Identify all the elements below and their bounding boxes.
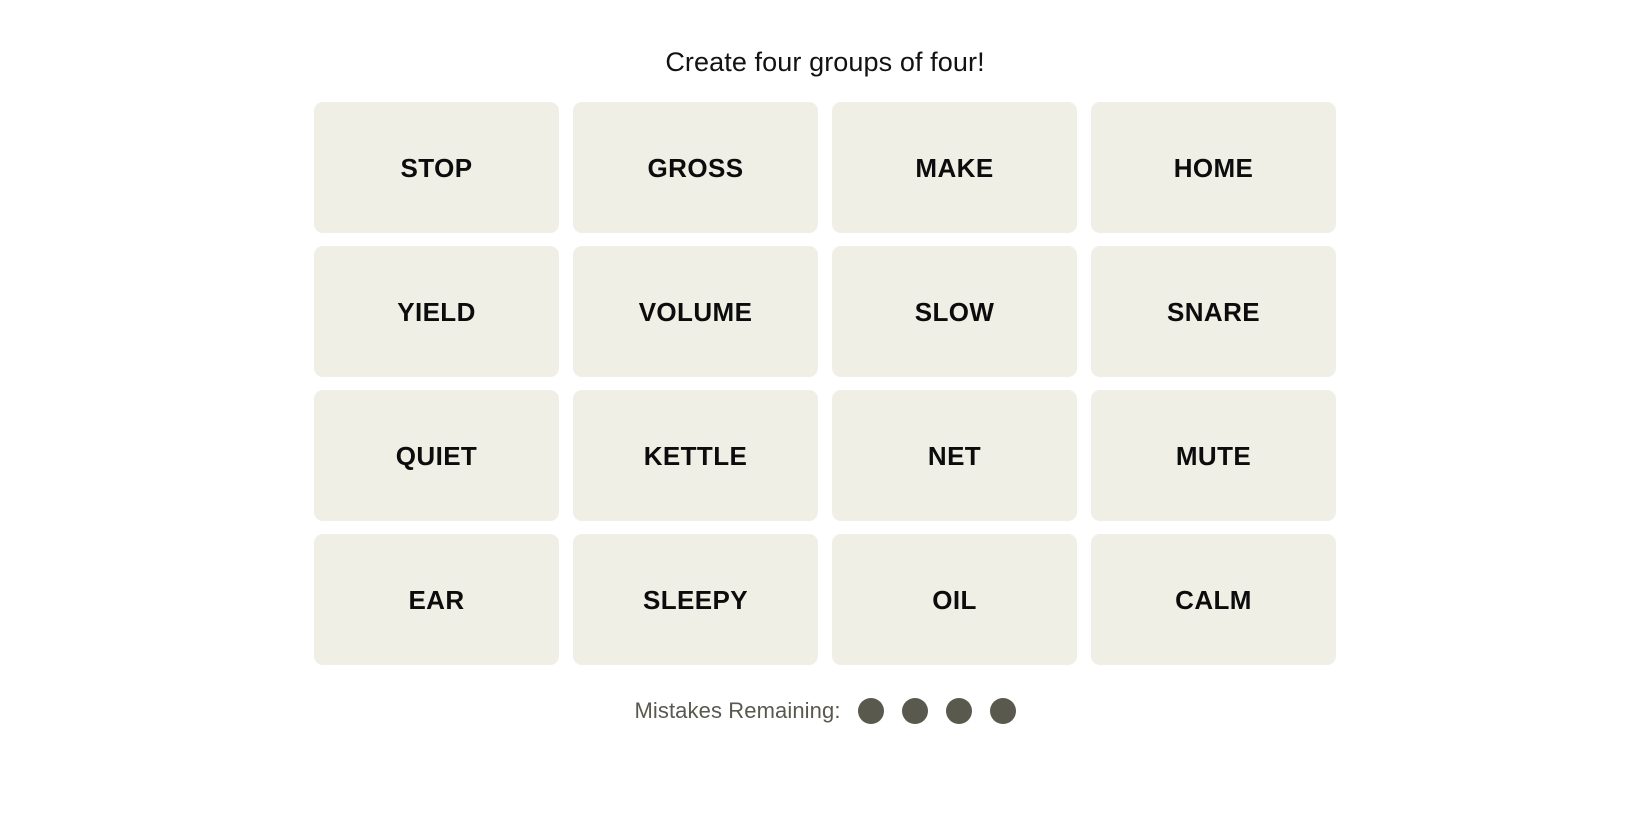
word-tile-label: YIELD bbox=[397, 299, 476, 325]
word-tile[interactable]: SLEEPY bbox=[573, 534, 818, 665]
mistakes-remaining: Mistakes Remaining: bbox=[634, 698, 1015, 724]
word-tile[interactable]: KETTLE bbox=[573, 390, 818, 521]
word-tile[interactable]: SNARE bbox=[1091, 246, 1336, 377]
word-tile[interactable]: MUTE bbox=[1091, 390, 1336, 521]
word-tile[interactable]: GROSS bbox=[573, 102, 818, 233]
word-tile-label: SNARE bbox=[1167, 299, 1260, 325]
mistake-dot-icon bbox=[990, 698, 1016, 724]
word-tile-label: VOLUME bbox=[639, 299, 753, 325]
word-tile[interactable]: YIELD bbox=[314, 246, 559, 377]
word-tile-label: MAKE bbox=[915, 155, 993, 181]
connections-game: Create four groups of four! STOP GROSS M… bbox=[0, 0, 1650, 825]
word-tile-label: QUIET bbox=[396, 443, 477, 469]
mistake-dot-icon bbox=[946, 698, 972, 724]
word-tile[interactable]: VOLUME bbox=[573, 246, 818, 377]
word-tile-label: SLEEPY bbox=[643, 587, 748, 613]
word-tile-label: SLOW bbox=[915, 299, 995, 325]
word-tile-label: GROSS bbox=[648, 155, 744, 181]
word-tile-label: EAR bbox=[408, 587, 464, 613]
word-tile-label: CALM bbox=[1175, 587, 1252, 613]
word-tile[interactable]: OIL bbox=[832, 534, 1077, 665]
mistake-dot-icon bbox=[902, 698, 928, 724]
word-tile-label: NET bbox=[928, 443, 981, 469]
mistake-dot-icon bbox=[858, 698, 884, 724]
word-tile[interactable]: QUIET bbox=[314, 390, 559, 521]
word-tile[interactable]: NET bbox=[832, 390, 1077, 521]
word-tile[interactable]: MAKE bbox=[832, 102, 1077, 233]
word-tile[interactable]: STOP bbox=[314, 102, 559, 233]
page-title: Create four groups of four! bbox=[665, 46, 984, 78]
word-tile-label: HOME bbox=[1174, 155, 1254, 181]
word-tile[interactable]: HOME bbox=[1091, 102, 1336, 233]
word-tile[interactable]: CALM bbox=[1091, 534, 1336, 665]
mistakes-remaining-label: Mistakes Remaining: bbox=[634, 698, 840, 724]
word-tile-label: MUTE bbox=[1176, 443, 1251, 469]
word-grid: STOP GROSS MAKE HOME YIELD VOLUME SLOW S… bbox=[314, 102, 1336, 665]
word-tile-label: OIL bbox=[932, 587, 977, 613]
word-tile[interactable]: SLOW bbox=[832, 246, 1077, 377]
word-tile-label: KETTLE bbox=[644, 443, 748, 469]
word-tile[interactable]: EAR bbox=[314, 534, 559, 665]
word-tile-label: STOP bbox=[401, 155, 473, 181]
mistakes-dots bbox=[858, 698, 1016, 724]
